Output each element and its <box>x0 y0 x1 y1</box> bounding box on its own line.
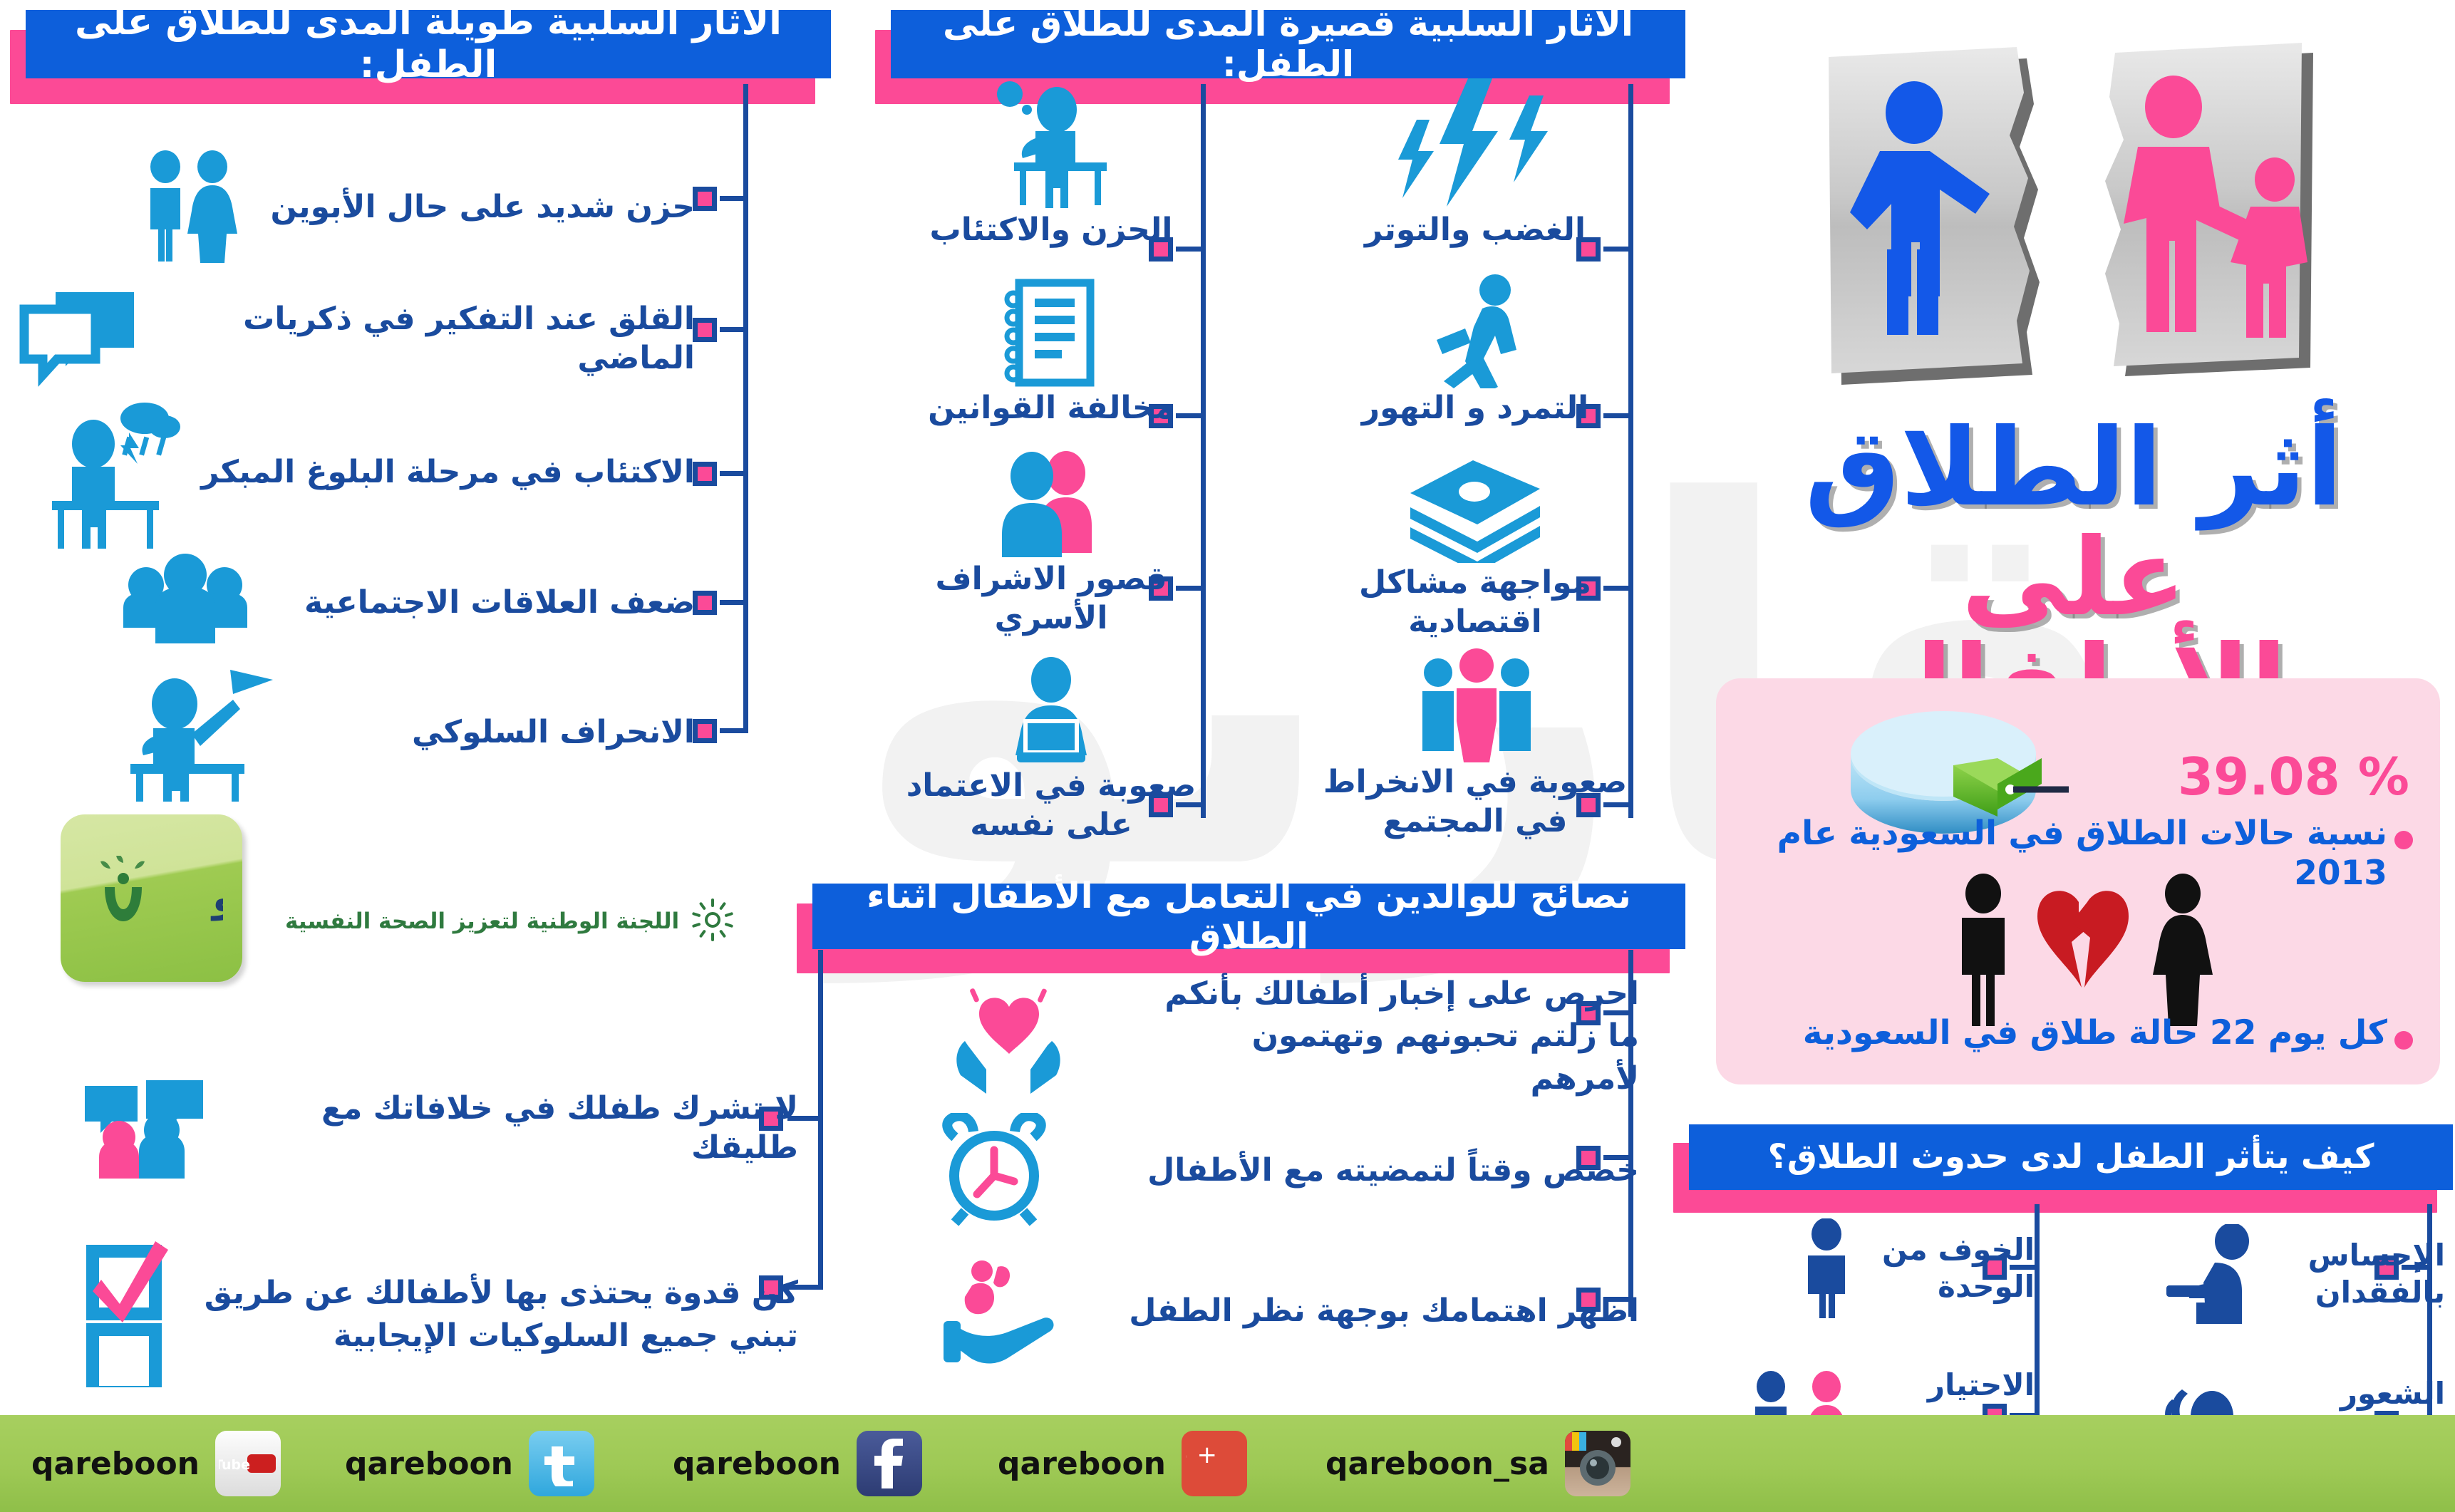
list-item[interactable]: الإحساس بالفقدان <box>2131 1224 2445 1324</box>
social-handle: qareboon <box>345 1446 513 1482</box>
group-people-icon <box>110 552 260 652</box>
facebook-icon <box>857 1431 922 1496</box>
tree-branch <box>720 196 748 201</box>
tree-branch <box>720 728 748 733</box>
saudi-burst-emblem-icon <box>691 898 735 945</box>
stats-card: 39.08 % نسبة حالات الطلاق في السعودية عا… <box>1716 678 2440 1084</box>
social-handle: qareboon_sa <box>1325 1446 1549 1482</box>
list-item-label: الغضب والتوتر <box>1365 210 1586 249</box>
qareboon-logo: قريبو <box>61 814 242 982</box>
list-item-label: الانحراف السلوكي <box>296 713 695 752</box>
social-handle: qareboon <box>31 1446 200 1482</box>
two-parents-icon <box>983 449 1119 559</box>
social-account-googleplus[interactable]: g + qareboon <box>998 1431 1247 1496</box>
list-item[interactable]: حزن شديد على حال الأبوين <box>18 150 695 264</box>
social-account-instagram[interactable]: qareboon_sa <box>1325 1431 1630 1496</box>
list-item[interactable]: ضعف العلاقات الاجتماعية <box>11 552 695 652</box>
social-account-facebook[interactable]: qareboon <box>673 1431 922 1496</box>
list-item-label: اظهر اهتمامك بوجهة نظر الطفل <box>1069 1291 1639 1330</box>
heart-in-hands-icon <box>941 975 1076 1097</box>
list-item-label: التمرد و التهور <box>1362 388 1589 428</box>
svg-text:Tube: Tube <box>219 1457 250 1473</box>
national-committee-credit: اللجنة الوطنية لتعزيز الصحة النفسية <box>285 898 735 945</box>
youtube-icon: You Tube <box>215 1431 281 1496</box>
tree-node <box>693 591 717 615</box>
broken-heart-couple-icon <box>1940 872 2226 1032</box>
divorce-percentage: 39.08 % <box>2178 747 2409 807</box>
running-person-icon <box>1411 274 1539 388</box>
list-item[interactable]: لا تشرك طفلك في خلافاتك مع طليقك <box>46 1075 798 1181</box>
svg-text:+: + <box>1197 1441 1218 1469</box>
list-item-label: صعوبة في الانخراط في المجتمع <box>1323 762 1627 841</box>
list-item[interactable]: القلق عند التفكير في ذكريات الماضي <box>11 285 695 392</box>
tree-trunk-advice-left <box>818 950 823 1288</box>
section-title-long-term: الآثار السلبية طويلة المدى للطلاق على ال… <box>37 1 820 87</box>
list-item-label: ضعف العلاقات الاجتماعية <box>260 583 695 622</box>
list-item-label: الحزن والاكتئاب <box>930 210 1173 249</box>
svg-text:g: g <box>1186 1439 1187 1488</box>
student-paper-plane-icon <box>118 663 296 802</box>
speech-bubbles-icon <box>11 285 153 392</box>
lonely-person-icon <box>1774 1218 1881 1318</box>
header-blue-bar: كيف يتأثر الطفل لدى حدوث الطلاق؟ <box>1689 1124 2453 1190</box>
bullet-dot <box>2394 831 2413 849</box>
list-item[interactable]: مواجهة مشاكل اقتصادية <box>1286 456 1664 641</box>
instagram-camera-icon <box>1565 1431 1630 1496</box>
list-item-label: كن قدوة يحتذى بها لأطفالك عن طريق تبني ج… <box>185 1272 798 1357</box>
list-item[interactable]: التمرد و التهور <box>1286 274 1664 428</box>
money-stack-icon <box>1400 456 1550 563</box>
man-woman-pair-icon <box>125 150 253 264</box>
tree-branch <box>720 471 748 476</box>
list-item[interactable]: الحزن والاكتئاب <box>869 78 1233 249</box>
header-blue-bar: الآثار السلبية طويلة المدى للطلاق على ال… <box>26 10 831 78</box>
hero-title-line1: أثر الطلاق <box>1803 415 2345 522</box>
list-item-label: خصص وقتاً لتمضيته مع الأطفال <box>1062 1151 1639 1190</box>
list-item-label: قصور الاشراف الأسري <box>935 559 1167 638</box>
section-title-advice: نصائح للوالدين في التعامل مع الأطفال أثن… <box>824 876 1674 958</box>
google-plus-icon: g + <box>1182 1431 1247 1496</box>
list-item[interactable]: الانحراف السلوكي <box>11 663 695 802</box>
hand-holding-child-icon <box>934 1255 1069 1366</box>
social-handle: qareboon <box>673 1446 841 1482</box>
national-committee-label: اللجنة الوطنية لتعزيز الصحة النفسية <box>285 908 679 934</box>
social-handle: qareboon <box>998 1446 1166 1482</box>
list-item-label: الاكتئاب في مرحلة البلوغ المبكر <box>196 452 695 492</box>
list-item-label: حزن شديد على حال الأبوين <box>253 187 695 227</box>
tree-node <box>693 719 717 743</box>
three-people-icon <box>1411 648 1539 762</box>
torn-family-photo <box>1803 29 2330 399</box>
checkbox-checked-icon <box>64 1241 185 1387</box>
list-item[interactable]: الاكتئاب في مرحلة البلوغ المبكر <box>11 395 695 549</box>
tree-node <box>693 462 717 486</box>
notepad-rules-icon <box>998 274 1105 388</box>
list-item[interactable]: قصور الاشراف الأسري <box>869 449 1233 638</box>
sad-student-rain-cloud-icon <box>32 395 196 549</box>
lightning-bolts-icon <box>1382 78 1568 210</box>
thinking-student-icon <box>980 78 1122 210</box>
tree-node <box>693 187 717 211</box>
list-item-label: احرص على إخبار أطفالك بأنكم ما زلتم تحبو… <box>1076 973 1639 1099</box>
list-item[interactable]: صعوبة في الانخراط في المجتمع <box>1286 648 1664 841</box>
list-item-label: الإحساس بالفقدان <box>2285 1237 2445 1312</box>
section-title-short-term: الآثار السلبية قصيرة المدى للطلاق على ال… <box>902 4 1674 86</box>
list-item-label: مواجهة مشاكل اقتصادية <box>1359 563 1591 641</box>
tree-trunk-how-left <box>2035 1204 2040 1418</box>
twitter-bird-icon <box>529 1431 594 1496</box>
header-blue-bar: نصائح للوالدين في التعامل مع الأطفال أثن… <box>812 884 1685 949</box>
person-laptop-icon <box>994 656 1108 766</box>
header-blue-bar: الآثار السلبية قصيرة المدى للطلاق على ال… <box>891 10 1685 78</box>
list-item-label: الخوف من الوحدة <box>1881 1231 2035 1306</box>
tree-branch <box>720 327 748 332</box>
list-item-label: لا تشرك طفلك في خلافاتك مع طليقك <box>214 1089 798 1167</box>
alarm-clock-icon <box>926 1113 1062 1227</box>
bullet-dot <box>2394 1031 2413 1050</box>
list-item[interactable]: مخالفة القوانين <box>869 274 1233 428</box>
list-item[interactable]: الغضب والتوتر <box>1286 78 1664 249</box>
list-item-label: القلق عند التفكير في ذكريات الماضي <box>153 299 695 378</box>
daily-divorce-caption: كل يوم 22 حالة طلاق في السعودية <box>1746 1013 2387 1053</box>
list-item[interactable]: صعوبة في الاعتماد على نفسه <box>869 656 1233 844</box>
list-item-label: مخالفة القوانين <box>928 388 1174 428</box>
svg-text:قريبو: قريبو <box>210 875 223 921</box>
tree-node <box>693 318 717 342</box>
list-item[interactable]: اظهر اهتمامك بوجهة نظر الطفل <box>909 1255 1639 1366</box>
list-item-label: صعوبة في الاعتماد على نفسه <box>906 766 1197 844</box>
social-account-twitter[interactable]: qareboon <box>345 1431 594 1496</box>
tree-trunk-long-term <box>743 84 748 732</box>
list-item[interactable]: الخوف من الوحدة <box>1735 1218 2035 1318</box>
seated-person-icon <box>2149 1224 2285 1324</box>
list-item[interactable]: كن قدوة يحتذى بها لأطفالك عن طريق تبني ج… <box>46 1241 798 1387</box>
list-item[interactable]: احرص على إخبار أطفالك بأنكم ما زلتم تحبو… <box>909 973 1639 1099</box>
people-chat-bubbles-icon <box>71 1075 214 1181</box>
social-footer: You Tube qareboon qareboon qareboon g + <box>0 1415 2455 1512</box>
list-item[interactable]: خصص وقتاً لتمضيته مع الأطفال <box>909 1113 1639 1227</box>
social-account-youtube[interactable]: You Tube qareboon <box>31 1431 281 1496</box>
tree-branch <box>720 600 748 605</box>
section-title-how-affected: كيف يتأثر الطفل لدى حدوث الطلاق؟ <box>1768 1138 2374 1176</box>
